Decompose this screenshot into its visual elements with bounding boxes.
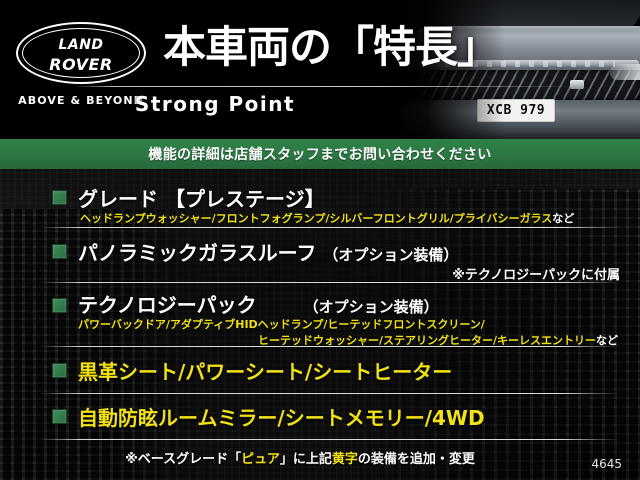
corner-reference-number: 4645: [591, 457, 622, 471]
feature-divider: [40, 393, 620, 394]
contact-banner-text: 機能の詳細は店舗スタッフまでお問い合わせください: [148, 144, 491, 164]
feature-option-label: （オプション装備）: [264, 298, 439, 316]
footer-note-post: の装備を追加・変更: [358, 452, 475, 467]
feature-option-label: （オプション装備）: [323, 246, 458, 264]
feature-note: ※テクノロジーパックに付属: [0, 264, 620, 283]
bullet-square-icon: [52, 409, 67, 424]
feature-divider: [40, 282, 620, 283]
bullet-square-icon: [52, 244, 67, 259]
logo-line-2: ROVER: [18, 55, 144, 75]
footer-note: ※ベースグレード「ピュア」に上記黄字の装備を追加・変更: [0, 448, 600, 467]
logo-line-1: LAND: [18, 35, 144, 55]
page-title-english: Strong Point: [0, 92, 430, 116]
bullet-square-icon: [52, 190, 67, 205]
bullet-square-icon: [52, 363, 67, 378]
feature-divider: [40, 346, 620, 347]
page-title-japanese: 本車両の「特長」: [163, 22, 499, 74]
feature-subtext-line-1: パワーバックドア/アダプティブHIDヘッドランプ/ヒーテッドフロントスクリーン/: [78, 316, 485, 332]
feature-list-section: グレード 【プレステージ】 ヘッドランプウォッシャー/フロントフォグランプ/シル…: [0, 169, 640, 480]
feature-subtext-tail: など: [552, 212, 574, 225]
feature-divider: [40, 227, 620, 228]
feature-subtext: ヘッドランプウォッシャー/フロントフォグランプ/シルバーフロントグリル/プライバ…: [80, 210, 574, 226]
feature-title: 自動防眩ルームミラー/シートメモリー/4WD: [78, 402, 485, 431]
footer-note-highlight-2: 黄字: [332, 452, 358, 467]
land-rover-logo-text: LAND ROVER: [18, 35, 144, 75]
land-rover-oval-logo-icon: LAND ROVER: [16, 22, 146, 84]
feature-subtext-main: ヘッドランプウォッシャー/フロントフォグランプ/シルバーフロントグリル/プライバ…: [80, 212, 552, 225]
feature-title: テクノロジーパック （オプション装備）: [78, 289, 439, 318]
footer-note-pre: ※ベースグレード「: [125, 452, 241, 467]
feature-title: 黒革シート/パワーシート/シートヒーター: [78, 356, 452, 385]
footer-note-highlight-1: ピュア: [241, 452, 280, 467]
vehicle-badge: [570, 80, 584, 89]
feature-title: グレード 【プレステージ】: [78, 183, 325, 212]
contact-banner: 機能の詳細は店舗スタッフまでお問い合わせください: [0, 139, 640, 169]
feature-sheet-page: XCB 979 LAND ROVER ABOVE & BEYOND 本車両の「特…: [0, 0, 640, 480]
feature-divider: [40, 439, 620, 440]
feature-title: パノラミックガラスルーフ （オプション装備）: [78, 237, 458, 266]
footer-note-mid: 」に上記: [280, 452, 332, 467]
bullet-square-icon: [52, 298, 67, 313]
feature-title-main: テクノロジーパック: [78, 293, 257, 317]
feature-items: グレード 【プレステージ】 ヘッドランプウォッシャー/フロントフォグランプ/シル…: [0, 169, 640, 480]
title-divider-rule: [75, 86, 575, 87]
vehicle-headlight: [608, 64, 640, 80]
feature-title-main: パノラミックガラスルーフ: [78, 241, 316, 265]
header-banner: XCB 979 LAND ROVER ABOVE & BEYOND 本車両の「特…: [0, 0, 640, 139]
